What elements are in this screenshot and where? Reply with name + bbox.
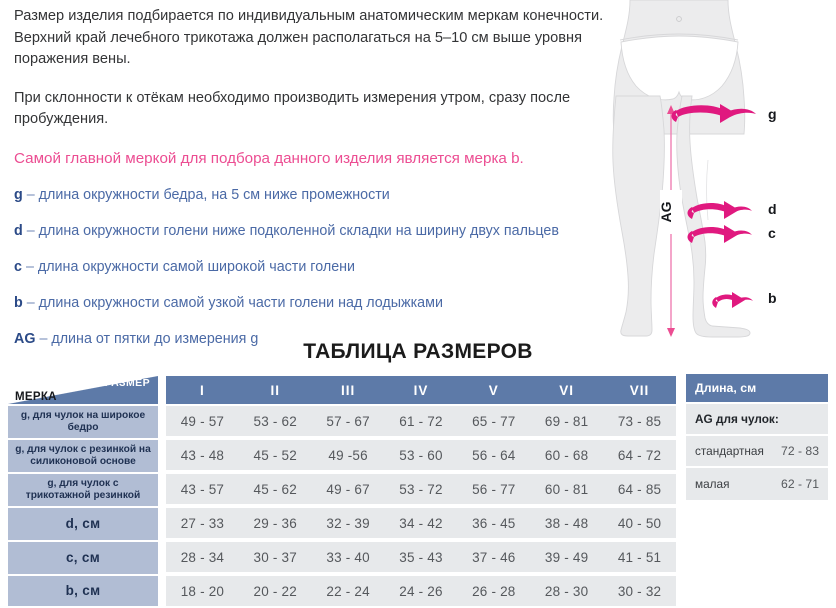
table-cell: 36 - 45 xyxy=(457,508,530,540)
figure-label-g: g xyxy=(768,106,777,122)
text-column: Размер изделия подбирается по индивидуал… xyxy=(14,6,604,348)
length-panel: Длина, см AG для чулок: стандартная 72 -… xyxy=(686,374,828,500)
measure-description: длина окружности бедра, на 5 см ниже про… xyxy=(39,187,390,203)
column-header-iii: III xyxy=(312,376,385,404)
length-subtitle-row: AG для чулок: xyxy=(686,404,828,436)
column-header-i: I xyxy=(166,376,239,404)
measure-dash: – xyxy=(26,259,34,275)
table-cell: 60 - 68 xyxy=(530,440,603,472)
table-cell: 28 - 30 xyxy=(530,576,603,606)
measure-dash: – xyxy=(27,187,35,203)
table-cell: 38 - 48 xyxy=(530,508,603,540)
length-row: малая 62 - 71 xyxy=(686,468,828,500)
table-cell: 26 - 28 xyxy=(457,576,530,606)
body-silhouette xyxy=(611,0,750,337)
column-header-vi: VI xyxy=(530,376,603,404)
corner-size-label: РАЗМЕР xyxy=(105,377,150,389)
measure-dash: – xyxy=(27,295,35,311)
measure-dash: – xyxy=(27,223,35,239)
table-cell: 49 - 57 xyxy=(166,406,239,438)
table-cell: 34 - 42 xyxy=(385,508,458,540)
highlight-note: Самой главной меркой для подбора данного… xyxy=(14,148,604,169)
table-cell: 41 - 51 xyxy=(603,542,676,574)
length-panel-body: AG для чулок: стандартная 72 - 83 малая … xyxy=(686,404,828,500)
length-panel-header: Длина, см xyxy=(686,374,828,402)
table-cell: 60 - 81 xyxy=(530,474,603,506)
table-cell: 27 - 33 xyxy=(166,508,239,540)
table-cell: 37 - 46 xyxy=(457,542,530,574)
column-header-vii: VII xyxy=(603,376,676,404)
table-cell: 22 - 24 xyxy=(312,576,385,606)
size-table: РАЗМЕР МЕРКА I II III IV V VI VII g, для… xyxy=(8,374,676,608)
leg-measurement-illustration: AG g d c xyxy=(600,0,836,348)
spacer xyxy=(158,474,166,506)
table-cell: 53 - 62 xyxy=(239,406,312,438)
length-row-name: стандартная xyxy=(695,444,764,458)
column-header-v: V xyxy=(457,376,530,404)
table-cell: 64 - 72 xyxy=(603,440,676,472)
b-measure-arrow xyxy=(712,292,753,308)
table-cell: 30 - 37 xyxy=(239,542,312,574)
table-cell: 24 - 26 xyxy=(385,576,458,606)
measurement-definition-list: g – длина окружности бедра, на 5 см ниже… xyxy=(14,186,604,348)
table-cell: 30 - 32 xyxy=(603,576,676,606)
table-cell: 49 -56 xyxy=(312,440,385,472)
table-cell: 57 - 67 xyxy=(312,406,385,438)
table-header-row: РАЗМЕР МЕРКА I II III IV V VI VII xyxy=(8,376,676,404)
row-label: c, см xyxy=(8,542,158,574)
table-cell: 39 - 49 xyxy=(530,542,603,574)
measure-key: g xyxy=(14,187,23,203)
length-row: стандартная 72 - 83 xyxy=(686,436,828,468)
figure-label-c: c xyxy=(768,225,776,241)
table-row: b, см 18 - 20 20 - 22 22 - 24 24 - 26 26… xyxy=(8,576,676,606)
table-cell: 32 - 39 xyxy=(312,508,385,540)
row-label: d, см xyxy=(8,508,158,540)
table-head: РАЗМЕР МЕРКА I II III IV V VI VII xyxy=(8,376,676,404)
length-row-name: малая xyxy=(695,477,730,491)
table-row: g, для чулок с резинкой на силиконовой о… xyxy=(8,440,676,472)
row-label: g, для чулок на широкое бедро xyxy=(8,406,158,438)
spacer xyxy=(158,508,166,540)
figure-label-b: b xyxy=(768,290,777,306)
table-cell: 20 - 22 xyxy=(239,576,312,606)
table-body: g, для чулок на широкое бедро 49 - 57 53… xyxy=(8,406,676,606)
intro-paragraph-2: При склонности к отёкам необходимо произ… xyxy=(14,88,604,131)
table-cell: 45 - 52 xyxy=(239,440,312,472)
table-row: g, для чулок с трикотажной резинкой 43 -… xyxy=(8,474,676,506)
length-row-value: 62 - 71 xyxy=(781,477,819,491)
table-cell: 40 - 50 xyxy=(603,508,676,540)
corner-header-cell: РАЗМЕР МЕРКА xyxy=(8,376,158,404)
measure-key: b xyxy=(14,295,23,311)
table-cell: 65 - 77 xyxy=(457,406,530,438)
list-item: c – длина окружности самой широкой части… xyxy=(14,258,604,276)
spacer xyxy=(158,542,166,574)
measure-description: длина окружности голени ниже подколенной… xyxy=(39,223,559,239)
corner-merka-label: МЕРКА xyxy=(15,391,57,403)
table-cell: 43 - 48 xyxy=(166,440,239,472)
table-cell: 73 - 85 xyxy=(603,406,676,438)
measure-key: d xyxy=(14,223,23,239)
measure-description: длина окружности самой узкой части голен… xyxy=(39,295,443,311)
spacer xyxy=(158,406,166,438)
column-header-iv: IV xyxy=(385,376,458,404)
spacer xyxy=(158,376,166,404)
measure-key: c xyxy=(14,259,22,275)
table-cell: 28 - 34 xyxy=(166,542,239,574)
table-cell: 45 - 62 xyxy=(239,474,312,506)
table-row: g, для чулок на широкое бедро 49 - 57 53… xyxy=(8,406,676,438)
intro-paragraph-1: Размер изделия подбирается по индивидуал… xyxy=(14,6,604,71)
table-cell: 33 - 40 xyxy=(312,542,385,574)
ag-label: AG xyxy=(658,201,674,222)
spacer xyxy=(158,576,166,606)
table-cell: 49 - 67 xyxy=(312,474,385,506)
list-item: g – длина окружности бедра, на 5 см ниже… xyxy=(14,186,604,204)
row-label: b, см xyxy=(8,576,158,606)
figure-label-d: d xyxy=(768,201,777,217)
spacer xyxy=(158,440,166,472)
table-cell: 56 - 64 xyxy=(457,440,530,472)
column-header-ii: II xyxy=(239,376,312,404)
table-cell: 18 - 20 xyxy=(166,576,239,606)
top-section: Размер изделия подбирается по индивидуал… xyxy=(0,0,836,335)
length-row-value: 72 - 83 xyxy=(781,444,819,458)
list-item: d – длина окружности голени ниже подколе… xyxy=(14,222,604,240)
table-cell: 53 - 60 xyxy=(385,440,458,472)
table-cell: 29 - 36 xyxy=(239,508,312,540)
table-cell: 69 - 81 xyxy=(530,406,603,438)
measure-description: длина окружности самой широкой части гол… xyxy=(38,259,355,275)
table-cell: 35 - 43 xyxy=(385,542,458,574)
page-title: ТАБЛИЦА РАЗМЕРОВ xyxy=(0,340,836,364)
table-cell: 56 - 77 xyxy=(457,474,530,506)
list-item: b – длина окружности самой узкой части г… xyxy=(14,294,604,312)
table-cell: 64 - 85 xyxy=(603,474,676,506)
table-cell: 61 - 72 xyxy=(385,406,458,438)
row-label: g, для чулок с трикотажной резинкой xyxy=(8,474,158,506)
table-cell: 43 - 57 xyxy=(166,474,239,506)
table-cell: 53 - 72 xyxy=(385,474,458,506)
row-label: g, для чулок с резинкой на силиконовой о… xyxy=(8,440,158,472)
length-subtitle: AG для чулок: xyxy=(695,412,779,426)
table-row: d, см 27 - 33 29 - 36 32 - 39 34 - 42 36… xyxy=(8,508,676,540)
table-row: c, см 28 - 34 30 - 37 33 - 40 35 - 43 37… xyxy=(8,542,676,574)
